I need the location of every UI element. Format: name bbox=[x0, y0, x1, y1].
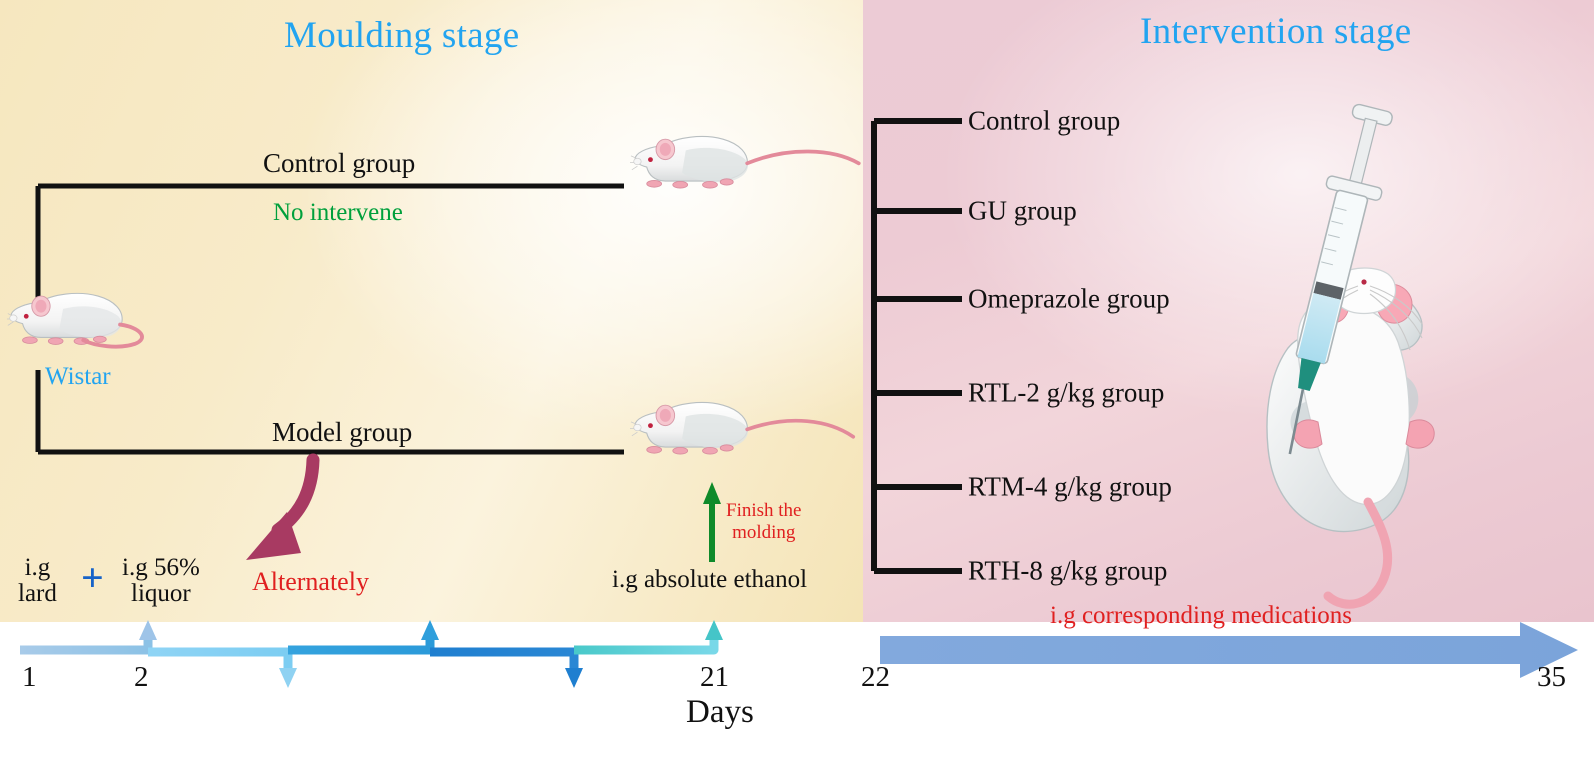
timeline-tick-22: 22 bbox=[861, 661, 890, 694]
control-group-branch-label: Control group bbox=[263, 148, 415, 179]
plus-icon: + bbox=[81, 558, 104, 598]
ig-absolute-ethanol-label: i.g absolute ethanol bbox=[612, 566, 807, 594]
wistar-strain-label: Wistar bbox=[45, 363, 111, 391]
intervention-stage-title: Intervention stage bbox=[1140, 10, 1412, 53]
group-label-gu: GU group bbox=[968, 196, 1077, 227]
ig-liquor-label: i.g 56% liquor bbox=[122, 555, 200, 607]
ig-corresponding-medications-label: i.g corresponding medications bbox=[1050, 602, 1352, 630]
ig-lard-line1: i.g bbox=[25, 554, 51, 581]
group-label-omeprazole: Omeprazole group bbox=[968, 284, 1170, 315]
alternately-label: Alternately bbox=[252, 567, 369, 597]
ig-lard-line2: lard bbox=[18, 580, 57, 607]
no-intervene-label: No intervene bbox=[273, 199, 403, 227]
experiment-design-figure: Moulding stage Intervention stage bbox=[0, 0, 1594, 771]
group-label-rtl: RTL-2 g/kg group bbox=[968, 378, 1164, 409]
timeline-tick-21: 21 bbox=[700, 661, 729, 694]
timeline-tick-35: 35 bbox=[1537, 661, 1566, 694]
intervention-timeline-arrow bbox=[880, 622, 1578, 678]
group-label-control: Control group bbox=[968, 106, 1120, 137]
finish-molding-line2: molding bbox=[732, 522, 795, 543]
timeline-tick-2: 2 bbox=[134, 661, 149, 694]
ig-liquor-line2: liquor bbox=[131, 580, 191, 607]
timeline-tick-1: 1 bbox=[22, 661, 37, 694]
group-label-rtm: RTM-4 g/kg group bbox=[968, 472, 1172, 503]
moulding-stage-title: Moulding stage bbox=[284, 14, 519, 57]
finish-molding-label: Finish the molding bbox=[726, 500, 801, 544]
ig-lard-label: i.g lard bbox=[18, 555, 57, 607]
model-group-branch-label: Model group bbox=[272, 417, 412, 448]
timeline-axis-label: Days bbox=[686, 694, 754, 731]
finish-molding-line1: Finish the bbox=[726, 500, 801, 521]
group-label-rth: RTH-8 g/kg group bbox=[968, 556, 1167, 587]
ig-liquor-line1: i.g 56% bbox=[122, 554, 200, 581]
